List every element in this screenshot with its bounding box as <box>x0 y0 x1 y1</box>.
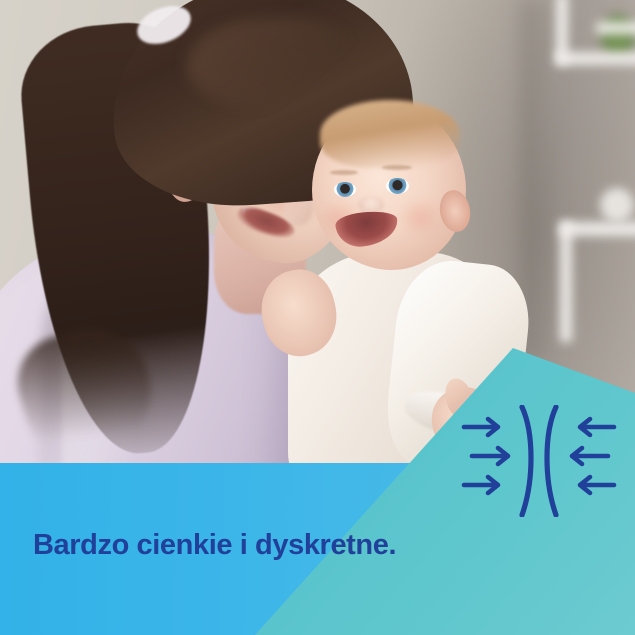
shelf-top <box>556 52 635 65</box>
shelf-top-cap <box>596 22 635 34</box>
baby-cheek-right <box>398 198 442 236</box>
arrow-right-middle <box>472 448 508 464</box>
thinness-compression-icon <box>458 405 618 517</box>
arrow-left-top <box>580 419 614 435</box>
arrow-left-bottom <box>580 477 614 493</box>
shelf-object <box>600 188 634 222</box>
baby-eyebrow-left <box>330 170 358 175</box>
baby-eyebrow-right <box>382 165 412 170</box>
headline-text: Bardzo cienkie i dyskretne. <box>33 531 396 560</box>
banner-creative: Bardzo cienkie i dyskretne. <box>0 0 635 635</box>
baby-eye-right <box>386 178 409 194</box>
arrow-left-middle <box>572 448 608 464</box>
baby-eye-left <box>334 182 356 197</box>
arrow-right-bottom <box>464 477 498 493</box>
shelf-bottom-side <box>560 222 572 342</box>
shelf-bottom <box>560 222 635 236</box>
curve-left-facing <box>547 407 556 515</box>
curve-right-facing <box>522 407 531 515</box>
arrow-right-top <box>464 419 498 435</box>
baby-hair <box>320 100 460 168</box>
